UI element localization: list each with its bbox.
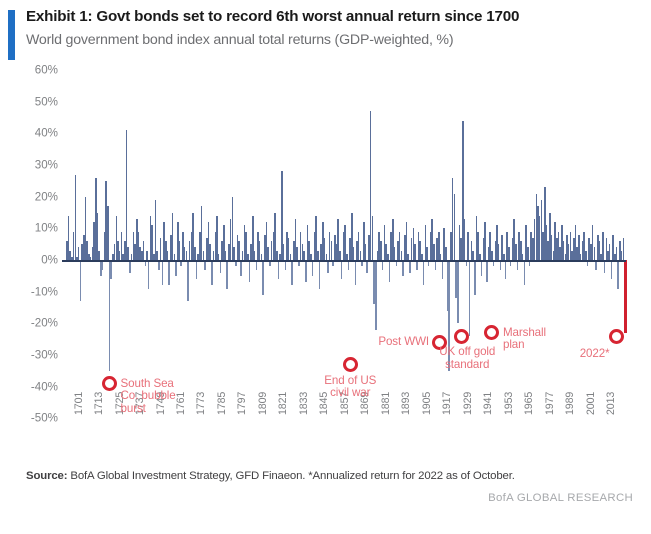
bar	[249, 260, 251, 282]
bar	[254, 251, 256, 261]
bar	[467, 232, 469, 261]
bar	[380, 241, 382, 260]
bar	[433, 244, 435, 260]
bar	[296, 247, 298, 260]
bar	[78, 247, 80, 260]
bar	[360, 251, 362, 261]
y-axis-tick-label: 50%	[35, 95, 58, 108]
bar	[278, 260, 280, 279]
bar	[616, 247, 618, 260]
bar	[303, 251, 305, 261]
bar	[211, 260, 213, 285]
bar	[75, 175, 77, 261]
bar	[481, 260, 483, 276]
x-axis-tick-label: 1761	[175, 392, 187, 415]
bar	[624, 260, 626, 333]
x-axis-tick-label: 1917	[441, 392, 453, 415]
bar	[375, 260, 377, 330]
annotation-marker-ring-icon	[102, 376, 117, 391]
page-subtitle: World government bond index annual total…	[26, 32, 641, 48]
bar	[389, 260, 391, 282]
x-axis-tick-label: 1953	[503, 392, 515, 415]
x-axis-tick-label: 1797	[236, 392, 248, 415]
chart-page: Exhibit 1: Govt bonds set to record 6th …	[0, 0, 651, 534]
bar	[464, 219, 466, 260]
bar	[319, 260, 321, 289]
bar	[355, 260, 357, 285]
bar	[331, 241, 333, 260]
y-axis-tick-label: -10%	[31, 285, 58, 298]
bar	[423, 260, 425, 285]
bar	[233, 247, 235, 260]
x-axis-tick-label: 1893	[400, 392, 412, 415]
brand-label: BofA GLOBAL RESEARCH	[488, 492, 633, 504]
bar	[238, 241, 240, 260]
bar	[394, 247, 396, 260]
bar	[623, 238, 625, 260]
bar	[162, 260, 164, 285]
bar	[505, 260, 507, 279]
chart-header: Exhibit 1: Govt bonds set to record 6th …	[0, 6, 651, 62]
bar	[143, 241, 145, 260]
bar	[454, 194, 456, 261]
annotation-marker-ring-icon	[609, 329, 624, 344]
bar	[194, 247, 196, 260]
bar	[527, 247, 529, 260]
x-axis-tick-label: 1713	[93, 392, 105, 415]
page-title: Exhibit 1: Govt bonds set to record 6th …	[26, 8, 641, 25]
bar	[226, 260, 228, 289]
bar	[594, 247, 596, 260]
x-axis-tick-label: 1701	[73, 392, 85, 415]
y-axis-tick-label: -50%	[31, 412, 58, 425]
x-axis-tick-label: 1989	[564, 392, 576, 415]
x-axis-tick-label: 2013	[605, 392, 617, 415]
bar	[474, 260, 476, 295]
annotation-label: 2022*	[557, 348, 633, 361]
y-axis-tick-label: 20%	[35, 190, 58, 203]
bar	[283, 244, 285, 260]
accent-bar-icon	[8, 10, 15, 60]
y-axis-tick-label: -20%	[31, 317, 58, 330]
bar	[585, 251, 587, 261]
bar	[372, 216, 374, 260]
bar	[524, 260, 526, 285]
source-text: BofA Global Investment Strategy, GFD Fin…	[70, 470, 514, 482]
x-axis-tick-label: 1905	[421, 392, 433, 415]
bar	[401, 251, 403, 261]
source-line: Source: BofA Global Investment Strategy,…	[26, 470, 515, 482]
bar	[486, 260, 488, 282]
x-axis-tick-label: 1833	[298, 392, 310, 415]
bar	[353, 247, 355, 260]
bar	[209, 244, 211, 260]
bar	[110, 260, 112, 279]
bar	[515, 244, 517, 260]
bar	[457, 260, 459, 323]
x-axis-tick-label: 1929	[462, 392, 474, 415]
bar	[426, 247, 428, 260]
bar	[365, 244, 367, 260]
bar	[276, 251, 278, 261]
annotation-label: South SeaCo. bubbleburst	[121, 378, 176, 416]
bar	[484, 222, 486, 260]
x-axis-tick-label: 1773	[195, 392, 207, 415]
x-axis-tick-label: 1965	[523, 392, 535, 415]
bar	[187, 260, 189, 301]
annotation-label: UK off goldstandard	[429, 346, 505, 371]
bar	[179, 241, 181, 260]
bar	[469, 260, 471, 336]
bar	[445, 247, 447, 260]
y-axis-tick-label: 60%	[35, 64, 58, 77]
y-axis-tick-label: -30%	[31, 349, 58, 362]
bar	[341, 260, 343, 279]
annotation-label: Marshallplan	[503, 327, 546, 352]
bar	[240, 260, 242, 276]
bar	[442, 260, 444, 279]
x-axis: 1701171317251737174917611773178517971809…	[66, 415, 626, 470]
bar	[262, 260, 264, 295]
bar	[107, 206, 109, 260]
bar	[472, 251, 474, 261]
bar	[148, 260, 150, 289]
x-axis-tick-label: 1785	[216, 392, 228, 415]
chart-area: 60%50%40%30%20%10%0%-10%-20%-30%-40%-50%…	[0, 70, 651, 465]
x-axis-tick-label: 1977	[544, 392, 556, 415]
annotation-label: End of UScivil war	[312, 375, 388, 400]
bar	[167, 251, 169, 261]
annotation-label: Post WWI	[378, 336, 429, 349]
chart-footer: Source: BofA Global Investment Strategy,…	[0, 470, 651, 530]
bar	[402, 260, 404, 276]
bar	[98, 251, 100, 261]
bar	[156, 251, 158, 261]
y-axis-tick-label: 30%	[35, 159, 58, 172]
bar	[160, 238, 162, 260]
bar	[291, 260, 293, 285]
bar	[146, 251, 148, 261]
bar	[225, 251, 227, 261]
bar	[196, 260, 198, 279]
bar	[498, 244, 500, 260]
annotation-marker-ring-icon	[454, 329, 469, 344]
bar	[602, 232, 604, 261]
bar	[339, 251, 341, 261]
bar	[508, 247, 510, 260]
bar	[80, 260, 82, 301]
bar	[617, 260, 619, 289]
y-axis-tick-label: 10%	[35, 222, 58, 235]
bar	[203, 251, 205, 261]
y-axis: 60%50%40%30%20%10%0%-10%-20%-30%-40%-50%	[0, 70, 62, 430]
bar	[186, 251, 188, 261]
annotation-marker-ring-icon	[343, 357, 358, 372]
bar	[611, 260, 613, 279]
bar	[168, 260, 170, 285]
bar	[126, 130, 128, 260]
y-axis-tick-label: 0%	[41, 254, 58, 267]
x-axis-tick-label: 1941	[482, 392, 494, 415]
x-axis-tick-label: 1809	[257, 392, 269, 415]
source-label: Source:	[26, 470, 67, 482]
y-axis-tick-label: -40%	[31, 380, 58, 393]
x-axis-tick-label: 1821	[277, 392, 289, 415]
zero-axis-line	[62, 260, 626, 262]
y-axis-tick-label: 40%	[35, 127, 58, 140]
bar	[312, 260, 314, 276]
bar	[267, 247, 269, 260]
bar	[317, 251, 319, 261]
bar	[491, 251, 493, 261]
bar	[175, 260, 177, 276]
bar	[609, 244, 611, 260]
x-axis-tick-label: 2001	[585, 392, 597, 415]
bar	[414, 244, 416, 260]
bar	[127, 247, 129, 260]
bar	[305, 260, 307, 282]
